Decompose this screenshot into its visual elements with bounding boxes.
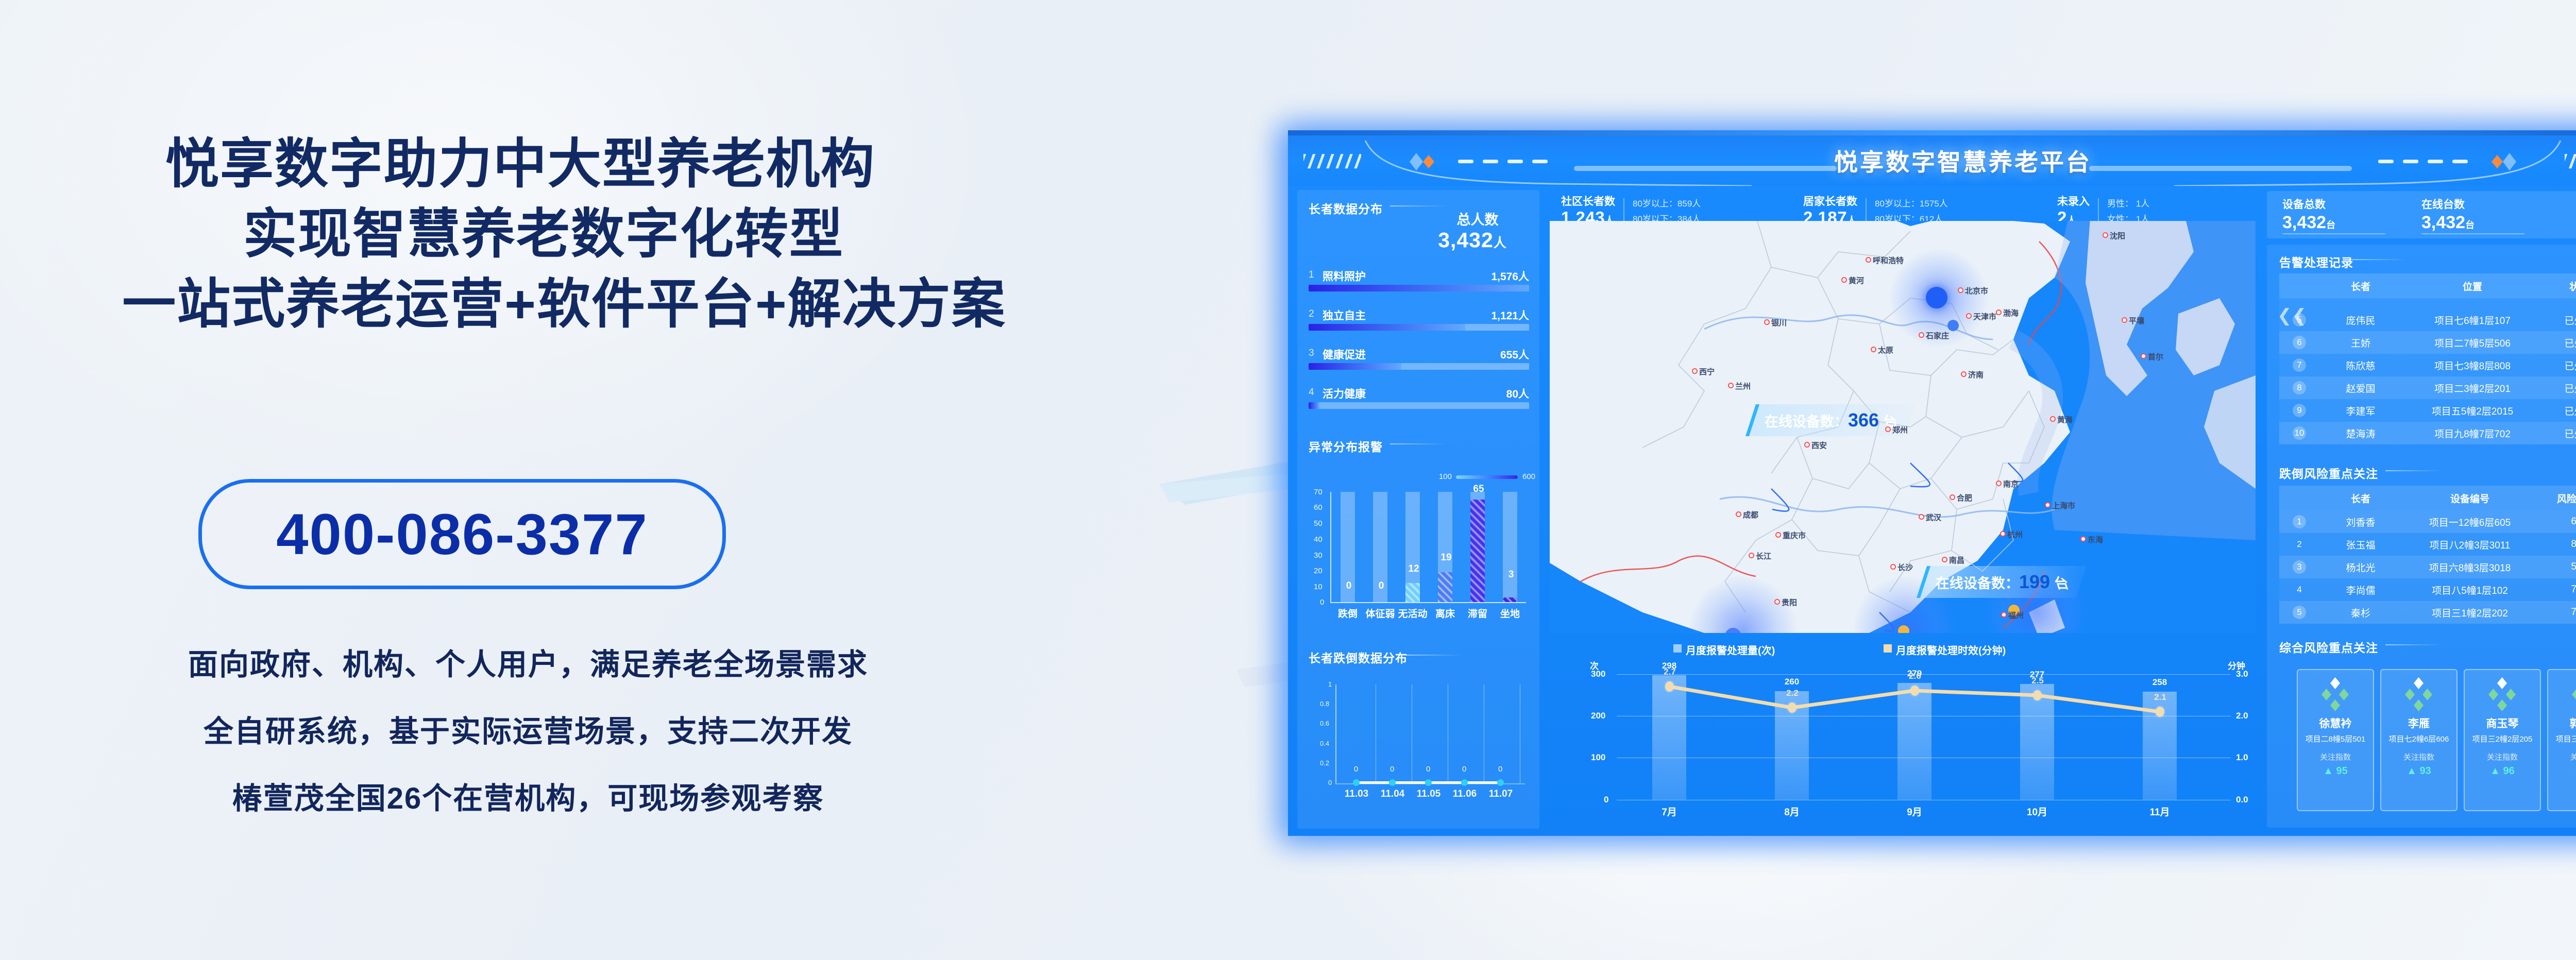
x-tick: 11.03: [1338, 788, 1375, 800]
badge-label: 在线设备数：: [1765, 410, 1848, 431]
map-city-label: 太原: [1878, 345, 1893, 355]
composite-risk-card[interactable]: 徐慧衿 项目二8幢5层501 关注指数 ▲ 95: [2297, 669, 2374, 811]
data-point: [1461, 779, 1468, 786]
phone-number: 400-086-3377: [276, 501, 648, 568]
map-city-dot: [1774, 599, 1780, 605]
category-name: 健康促进: [1323, 347, 1366, 362]
card-index-value: ▲ 96: [2490, 765, 2515, 777]
composite-risk-card[interactable]: 商玉琴 项目三2幢2层205 关注指数 ▲ 96: [2464, 669, 2541, 811]
card-index-caption: 关注指数: [2570, 751, 2576, 762]
device-total-label: 设备总数: [2282, 196, 2335, 212]
row-index: 6: [2279, 336, 2319, 349]
category-name: 照料照护: [1323, 268, 1366, 284]
map-city-label: 首尔: [2148, 351, 2163, 362]
row-elder: 赵爱国: [2319, 381, 2402, 395]
card-index-number: 93: [2420, 765, 2431, 777]
row-device: 项目六8幢3层3018: [2402, 560, 2538, 574]
map-city-dot: [2045, 502, 2050, 508]
row-device: 项目三1幢2层202: [2402, 606, 2538, 620]
y-tick: 0.2: [1320, 759, 1329, 767]
card-index-value: ▲ 89: [2573, 765, 2576, 777]
category-value: 80人: [1506, 386, 1529, 401]
y-tick-left: 300: [1591, 669, 1605, 679]
table-row[interactable]: 1 刘香香 项目一12幢6层605 67: [2279, 510, 2576, 533]
x-axis-line: [1330, 602, 1526, 603]
point-value: 2.5: [2022, 676, 2053, 686]
rank: 2: [1309, 308, 1314, 320]
point-value: 2.1: [2145, 692, 2176, 702]
row-elder: 陈欣慈: [2319, 358, 2402, 372]
bar-value: 19: [1431, 552, 1462, 563]
data-point: [1665, 681, 1674, 692]
legend-swatch-volume: [1673, 644, 1682, 653]
y-tick: 60: [1314, 503, 1323, 512]
bar-fill: [1309, 363, 1401, 370]
map-city-dot: [1871, 347, 1876, 352]
map-city-dot: [1841, 277, 1847, 283]
map-city-dot: [2141, 353, 2146, 359]
table-row[interactable]: 4 李尚儒 项目八5幢1层102 76: [2279, 578, 2576, 601]
row-device: 项目八2幢3层3011: [2402, 538, 2538, 552]
distribution-row: 4 活力健康 80人: [1309, 386, 1529, 415]
row-location: 项目九8幢7层702: [2402, 426, 2543, 440]
marketing-copy: 悦享数字助力中大型养老机构 实现智慧养老数字化转型 一站式养老运营+软件平台+解…: [0, 0, 1211, 960]
row-index: 9: [2279, 404, 2319, 417]
row-location: 项目二3幢2层201: [2402, 381, 2543, 395]
map-city-label: 石家庄: [1926, 330, 1949, 341]
table-row[interactable]: 10 楚海涛 项目九8幢7层702 已处理: [2279, 422, 2576, 444]
y-tick: 0.6: [1320, 719, 1329, 727]
china-map[interactable]: 在线设备数：366 台 在线设备数：199 台 沈阳呼和浩特北京市天津市平壤银川…: [1550, 221, 2256, 633]
map-city-label: 上海市: [2052, 500, 2075, 511]
card-index-number: 95: [2336, 765, 2348, 777]
table-row[interactable]: 8 赵爱国 项目二3幢2层201 已处理: [2279, 376, 2576, 399]
map-city-label: 长沙: [1897, 562, 1913, 573]
map-city-label: 南京: [2003, 478, 2019, 489]
device-total-rule: [2282, 233, 2385, 234]
bar-track: [1309, 402, 1529, 409]
title-rule: [2349, 259, 2406, 260]
card-index-value: ▲ 93: [2406, 765, 2431, 777]
row-location: 项目七3幢8层808: [2402, 358, 2543, 372]
x-tick: 11.06: [1447, 788, 1483, 800]
data-point: [2156, 707, 2164, 717]
x-tick: 11.07: [1483, 788, 1519, 800]
row-status: 已处理: [2543, 404, 2576, 418]
col-location: 位置: [2402, 279, 2543, 293]
device-total-value: 3,432台: [2282, 213, 2335, 233]
map-city-dot: [1764, 319, 1770, 325]
map-city-dot: [2122, 317, 2127, 323]
bar-track: [1309, 324, 1529, 331]
device-summary-strip: 设备总数 3,432台 在线台数 3,432台: [2267, 191, 2576, 238]
row-elder: 刘香香: [2319, 515, 2402, 529]
col-elder: 长者: [2319, 491, 2402, 505]
distribution-row: 2 独立自主 1,121人: [1309, 307, 1529, 337]
card-location: 项目三3幢5层502: [2556, 733, 2576, 744]
device-total-unit: 台: [2326, 220, 2335, 230]
row-status: 已处理: [2543, 426, 2576, 440]
col-device: 设备编号: [2402, 491, 2538, 505]
data-point: [1910, 685, 1919, 696]
card-location: 项目二8幢5层501: [2306, 733, 2366, 744]
map-city-label: 呼和浩特: [1873, 255, 1904, 266]
card-elder-name: 徐慧衿: [2319, 715, 2352, 731]
y-tick: 40: [1314, 535, 1323, 544]
row-elder: 王娇: [2319, 336, 2402, 350]
row-location: 项目五5幢2层2015: [2402, 404, 2543, 418]
y-tick-left: 0: [1604, 795, 1608, 805]
device-online: 在线台数 3,432台: [2421, 196, 2475, 233]
bar-category: 坐地: [1490, 606, 1530, 620]
y-tick: 0: [1320, 598, 1324, 607]
map-city-dot: [1950, 494, 1955, 500]
card-location: 项目七2幢6层606: [2389, 733, 2449, 744]
col-elder: 长者: [2319, 279, 2402, 293]
y-tick: 70: [1314, 488, 1323, 496]
index-pill: 7: [2293, 358, 2306, 372]
bar-value: 65: [1463, 484, 1494, 495]
table-row[interactable]: 2 张玉福 项目八2幢3层3011 88: [2279, 533, 2576, 556]
table-row[interactable]: 6 王娇 项目二7幢5层506 已处理: [2279, 331, 2576, 354]
bar-value: 0: [1333, 580, 1364, 592]
sub-line-1: 面向政府、机构、个人用户，满足养老全场景需求: [0, 640, 1056, 683]
map-city-label: 西安: [1811, 440, 1827, 451]
row-location: 项目七6幢1层107: [2402, 313, 2543, 327]
stat-sub-1: 80岁以上：859人: [1633, 196, 1701, 212]
title-rule: [2385, 644, 2442, 645]
map-city-label: 西宁: [1699, 366, 1715, 377]
col-status: 状态: [2543, 279, 2576, 293]
map-city-label: 北京市: [1965, 285, 1988, 296]
card-elder-name: 郭建国: [2570, 715, 2576, 731]
point-value: 0: [1354, 765, 1358, 774]
bar-value: 0: [1366, 580, 1397, 592]
stat-label: 未录入: [2057, 196, 2090, 209]
bar-track: [1503, 492, 1517, 602]
row-index: 5: [2279, 606, 2319, 619]
legend-gradient: [1456, 475, 1518, 479]
bar-volume: [2020, 684, 2054, 800]
row-elder: 李建军: [2319, 404, 2402, 418]
map-city-dot: [1890, 564, 1896, 570]
x-tick: 9月: [1891, 804, 1938, 818]
map-city-dot: [2050, 416, 2056, 422]
row-device: 项目八5幢1层102: [2402, 583, 2538, 597]
data-point: [2033, 690, 2042, 700]
index-plain: 4: [2297, 585, 2301, 594]
map-badge-online-devices-1: 在线设备数：366 台: [1745, 404, 1916, 436]
bar-fill: [1438, 572, 1452, 602]
y-tick: 10: [1314, 582, 1323, 591]
index-pill: 10: [2293, 426, 2306, 440]
map-city-dot: [1736, 511, 1741, 517]
category-value: 1,121人: [1491, 307, 1529, 323]
y-tick: 0.4: [1320, 740, 1329, 747]
data-point: [1788, 702, 1797, 713]
legend-max-label: 600: [1522, 472, 1535, 481]
x-tick: 11.04: [1375, 788, 1411, 800]
stat-label: 居家长者数: [1803, 196, 1857, 209]
map-city-label: 黄河: [1849, 275, 1864, 286]
monthly-alert-chart: 月度报警处理量(次) 月度报警处理时效(分钟) 次 分钟 300 200 100…: [1550, 640, 2256, 828]
map-city-dot: [1804, 442, 1810, 448]
bar-value: 3: [1496, 569, 1527, 580]
map-city-dot: [2000, 531, 2006, 537]
map-city-label: 武汉: [1926, 512, 1941, 523]
index-pill: 8: [2293, 381, 2306, 395]
map-city-label: 银川: [1771, 317, 1787, 328]
composite-risk-card[interactable]: 郭建国 项目三3幢5层502 关注指数 ▲ 89: [2547, 669, 2576, 811]
index-pill: 9: [2293, 404, 2306, 417]
row-status: 已处理: [2543, 313, 2576, 327]
x-tick: 10月: [2014, 804, 2060, 818]
point-value: 2.2: [1777, 688, 1808, 698]
row-index: 8: [2279, 381, 2319, 395]
row-elder: 庞伟民: [2319, 313, 2402, 327]
card-index-caption: 关注指数: [2487, 751, 2518, 762]
card-index-value: ▲ 95: [2323, 765, 2348, 777]
map-city-label: 郑州: [1892, 424, 1908, 435]
x-tick: 8月: [1769, 804, 1815, 818]
row-risk: 78: [2538, 607, 2576, 618]
gridline: [1617, 800, 2231, 800]
badge-value: 199: [2019, 571, 2050, 592]
map-city-label: 南昌: [1949, 555, 1964, 565]
map-city-dot: [1942, 557, 1947, 562]
row-location: 项目二7幢5层506: [2402, 336, 2543, 350]
map-city-dot: [1885, 426, 1891, 432]
headline-line-1: 悦享数字助力中大型养老机构: [0, 130, 1041, 199]
row-risk: 67: [2538, 516, 2576, 527]
map-city-dot: [1866, 257, 1871, 263]
elder-total-number: 3,432: [1438, 228, 1494, 252]
fall-risk-title: 跌倒风险重点关注: [2279, 464, 2378, 482]
anomaly-chart-title: 异常分布报警: [1309, 437, 1383, 455]
map-city-label: 平壤: [2129, 315, 2144, 326]
index-pill: 6: [2293, 336, 2306, 349]
rank: 4: [1309, 387, 1314, 398]
map-city-label: 成都: [1743, 509, 1758, 520]
col-risk-index: 风险指数: [2538, 491, 2576, 505]
point-value: 0: [1390, 765, 1394, 774]
diamond-cluster-icon: [2318, 677, 2352, 711]
data-point: [1497, 779, 1504, 786]
rank: 3: [1309, 348, 1314, 359]
card-index-number: 96: [2503, 765, 2515, 777]
y-tick-left: 100: [1591, 752, 1605, 763]
category-name: 独立自主: [1323, 307, 1366, 323]
device-total: 设备总数 3,432台: [2282, 196, 2335, 233]
title-rule: [2385, 470, 2442, 471]
phone-cta-button[interactable]: 400-086-3377: [198, 479, 726, 589]
table-row[interactable]: 9 李建军 项目五5幢2层2015 已处理: [2279, 399, 2576, 422]
bar-track: [1309, 363, 1529, 370]
map-city-dot: [1728, 383, 1734, 388]
carousel-prev-icon[interactable]: ❮❮: [2277, 305, 2307, 326]
bar-volume: [1652, 675, 1686, 800]
table-row[interactable]: 7 陈欣慈 项目七3幢8层808 已处理: [2279, 354, 2576, 376]
fall-data-chart-title: 长者跌倒数据分布: [1309, 648, 1408, 666]
map-city-label: 福州: [2008, 610, 2024, 621]
point-value: 0: [1426, 765, 1430, 774]
composite-risk-title: 综合风险重点关注: [2279, 638, 2378, 656]
row-index: 10: [2279, 426, 2319, 440]
bar-volume: [1897, 683, 1931, 800]
card-index-caption: 关注指数: [2320, 751, 2351, 762]
row-index: 7: [2279, 358, 2319, 372]
legend-swatch-efficiency: [1884, 644, 1892, 653]
table-row[interactable]: 5 秦杉 项目三1幢2层202 78: [2279, 601, 2576, 624]
distribution-row: 3 健康促进 655人: [1309, 347, 1529, 376]
index-plain: 2: [2297, 539, 2301, 549]
bar-fill: [1405, 583, 1420, 602]
fall-line-chart: 1 0.8 0.6 0.4 0.2 0 0 0 0 0 0 11.03 11.0…: [1309, 679, 1529, 808]
badge-label: 在线设备数：: [1936, 572, 2019, 592]
point-value: 0: [1498, 765, 1502, 774]
alert-records-table[interactable]: 长者 位置 状态 5 庞伟民 项目七6幢1层107 已处理 6 王娇 项目二7幢…: [2279, 273, 2576, 444]
category-name: 活力健康: [1323, 386, 1366, 401]
elder-total-value: 3,432人: [1400, 228, 1545, 252]
category-value: 655人: [1500, 347, 1529, 362]
map-badge-online-devices-2: 在线设备数：199 台: [1917, 566, 2087, 598]
data-point: [1353, 779, 1360, 786]
x-tick: 11.05: [1411, 788, 1447, 800]
map-city-dot: [2080, 536, 2086, 542]
row-elder: 张玉福: [2319, 538, 2402, 552]
index-pill: 5: [2293, 606, 2306, 619]
elder-total-label: 总人数: [1426, 209, 1529, 229]
bar-fill: [1503, 597, 1517, 602]
headline-line-3: 一站式养老运营+软件平台+解决方案: [0, 270, 1128, 339]
composite-risk-card[interactable]: 李雁 项目七2幢6层606 关注指数 ▲ 93: [2380, 669, 2458, 811]
row-device: 项目一12幢6层605: [2402, 515, 2538, 529]
page-title: 悦享数字智慧养老平台: [1288, 144, 2576, 178]
row-index: 3: [2279, 560, 2319, 574]
device-online-label: 在线台数: [2421, 196, 2475, 212]
row-status: 已处理: [2543, 381, 2576, 395]
bar-volume-value: 258: [2137, 677, 2183, 688]
badge-value: 366: [1848, 409, 1879, 431]
bar-track: [1309, 285, 1529, 292]
title-rule: [1405, 655, 1462, 656]
data-point: [1389, 779, 1396, 786]
row-status: 已处理: [2543, 336, 2576, 350]
elder-total-unit: 人: [1494, 236, 1507, 250]
y-tick: 30: [1314, 551, 1323, 560]
bar-fill: [1309, 402, 1319, 409]
device-online-value: 3,432台: [2421, 213, 2475, 233]
map-city-dot: [2103, 232, 2108, 238]
table-row[interactable]: 5 庞伟民 项目七6幢1层107 已处理: [2279, 308, 2576, 331]
table-header-row: 长者 位置 状态: [2279, 273, 2576, 298]
y-tick-right: 1.0: [2236, 752, 2248, 763]
device-online-rule: [2421, 233, 2524, 234]
point-value: 2.6: [1900, 671, 1930, 681]
elder-distribution-title: 长者数据分布: [1309, 199, 1383, 217]
row-index: 2: [2279, 539, 2319, 550]
composite-risk-card-list: 徐慧衿 项目二8幢5层501 关注指数 ▲ 95 李雁 项目七2幢6层606 关…: [2297, 669, 2576, 811]
y-tick: 1: [1328, 680, 1332, 688]
point-value: 0: [1462, 765, 1466, 774]
index-pill: 1: [2293, 515, 2306, 528]
y-axis-line: [1330, 492, 1331, 602]
row-elder: 秦杉: [2319, 606, 2402, 620]
legend-volume: 月度报警处理量(次): [1686, 642, 1775, 657]
badge-unit: 台: [2050, 572, 2071, 592]
table-scroll-clip: [2279, 298, 2576, 308]
map-city-dot: [1996, 310, 2002, 315]
device-total-number: 3,432: [2282, 213, 2326, 232]
card-index-caption: 关注指数: [2403, 751, 2434, 762]
map-city-dot: [1966, 313, 1972, 319]
map-city-dot: [1996, 481, 2002, 486]
fall-risk-table[interactable]: 长者 设备编号 风险指数 1 刘香香 项目一12幢6层605 67 2 张玉福 …: [2279, 486, 2576, 624]
title-rule: [1390, 443, 1447, 444]
rank: 1: [1309, 269, 1314, 281]
y-axis-line: [1335, 684, 1336, 783]
stat-sub-1: 男性： 1人: [2107, 196, 2149, 212]
y-tick: 50: [1314, 519, 1323, 528]
map-city-dot: [2001, 612, 2007, 618]
dashboard-screen: 悦享数字智慧养老平台 长者数据分布 总人数 3,432人 1 照料照护 1,57…: [1288, 130, 2576, 836]
map-city-dot: [1749, 553, 1754, 558]
y-tick: 0: [1328, 779, 1332, 786]
bar-fill: [1309, 324, 1465, 331]
right-column-panel: 告警处理记录 长者 位置 状态 5 庞伟民 项目七6幢1层107 已处理 6 王…: [2267, 245, 2576, 828]
map-city-label: 东海: [2088, 534, 2103, 545]
table-header-row: 长者 设备编号 风险指数: [2279, 486, 2576, 510]
x-tick: 11月: [2137, 804, 2183, 818]
sub-line-3: 椿萱茂全国26个在营机构，可现场参观考察: [0, 774, 1056, 817]
map-city-dot: [1775, 532, 1781, 538]
bar-fill: [1309, 285, 1529, 292]
row-elder: 李尚儒: [2319, 583, 2402, 597]
row-index: 1: [2279, 515, 2319, 528]
map-city-label: 渤海: [2003, 307, 2019, 318]
bar-value: 12: [1398, 563, 1429, 575]
row-elder: 楚海涛: [2319, 426, 2402, 440]
dashboard-header: 悦享数字智慧养老平台: [1288, 130, 2576, 186]
diamond-cluster-icon: [2485, 677, 2519, 711]
map-city-label: 贵阳: [1782, 597, 1797, 608]
map-city-label: 沈阳: [2110, 230, 2125, 241]
map-city-dot: [1919, 514, 1924, 520]
diamond-cluster-icon: [2402, 677, 2436, 711]
device-online-unit: 台: [2465, 220, 2475, 230]
bar-fill: [1470, 500, 1485, 602]
row-status: 已处理: [2543, 358, 2576, 372]
map-city-dot: [1958, 287, 1963, 293]
y-tick: 20: [1314, 567, 1323, 575]
card-elder-name: 李雁: [2408, 715, 2430, 731]
sub-line-2: 全自研系统，基于实际运营场景，支持二次开发: [0, 707, 1056, 750]
row-risk: 76: [2538, 584, 2576, 595]
alert-records-title: 告警处理记录: [2279, 253, 2353, 270]
headline-line-2: 实现智慧养老数字化转型: [0, 200, 1087, 269]
y-tick-right: 2.0: [2236, 711, 2248, 721]
map-city-label: 黄海: [2057, 414, 2073, 425]
map-city-label: 合肥: [1957, 492, 1972, 503]
diamond-cluster-icon: [2569, 677, 2576, 711]
anomaly-bar-chart: 100 600 70 60 50 40 30 20 10 0 0 跌倒 0 体征…: [1309, 468, 1529, 623]
map-city-label: 兰州: [1735, 381, 1751, 391]
row-risk: 52: [2538, 561, 2576, 573]
map-city-dot: [1919, 332, 1924, 338]
bar-volume-value: 260: [1769, 677, 1815, 687]
point-value: 2.7: [1654, 667, 1685, 677]
table-row[interactable]: 3 杨北光 项目六8幢3层3018 52: [2279, 556, 2576, 578]
